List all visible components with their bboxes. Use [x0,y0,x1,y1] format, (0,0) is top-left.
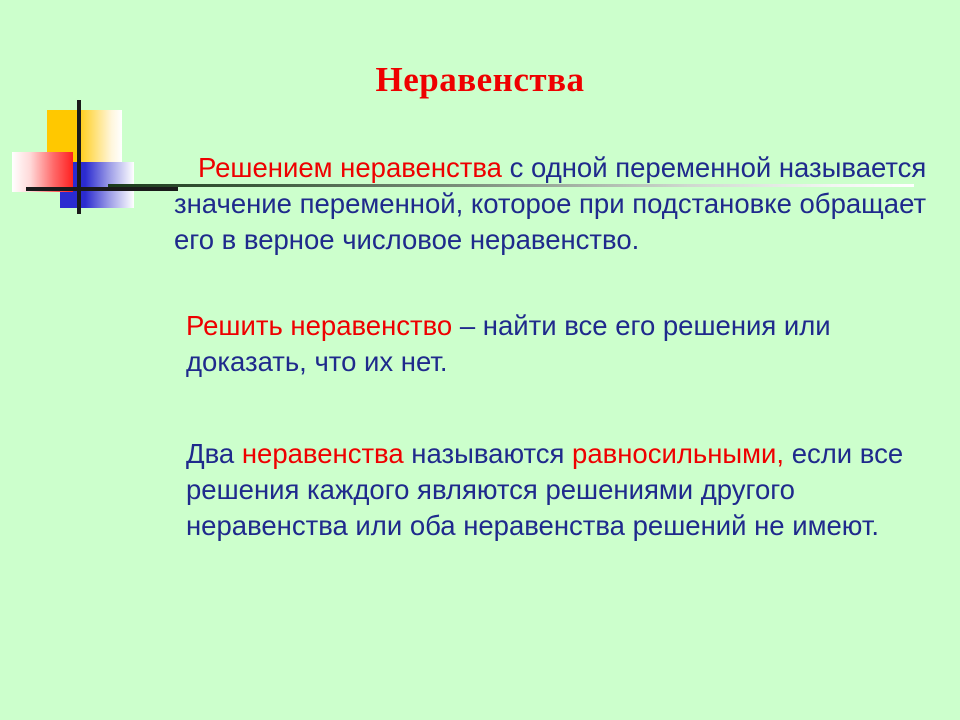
paragraph-definition-equivalent: Два неравенства называются равносильными… [174,436,934,544]
abstract-squares-logo [0,96,190,218]
text-run-red: Решить неравенство [186,310,452,341]
text-run-blue: называются [404,438,572,469]
horizontal-line-icon [26,187,178,191]
slide-body: Решением неравенства с одной переменной … [174,150,934,544]
page-title: Неравенства [0,60,960,100]
text-run-red: Решением неравенства [198,152,502,183]
text-run-red: равносильными, [572,438,784,469]
text-run-red: неравенства [242,438,404,469]
red-square-icon [12,152,73,192]
text-run-blue: Два [186,438,242,469]
vertical-line-icon [77,100,81,214]
paragraph-definition-solution: Решением неравенства с одной переменной … [174,150,934,258]
presentation-slide: Неравенства Решением неравенства с одной… [0,0,960,720]
paragraph-definition-solve: Решить неравенство – найти все его решен… [174,308,934,380]
